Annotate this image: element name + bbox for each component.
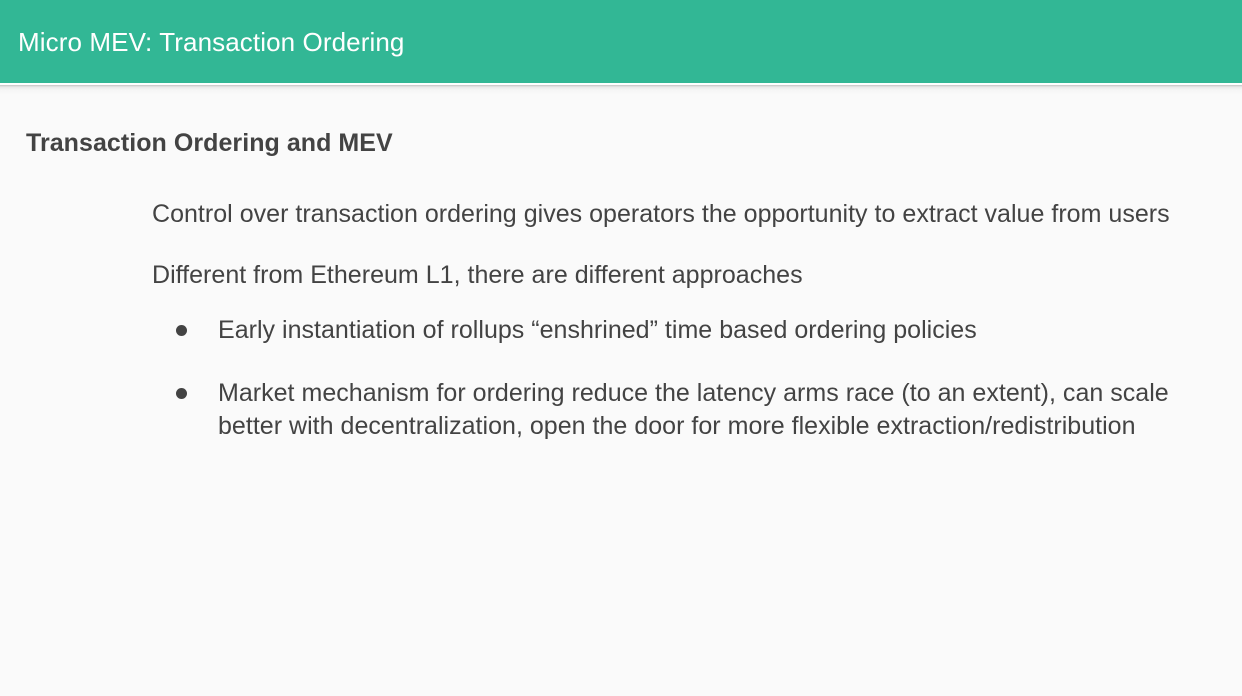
app-bar: Micro MEV: Transaction Ordering bbox=[0, 0, 1242, 83]
section-heading: Transaction Ordering and MEV bbox=[26, 128, 393, 158]
bullet-list: Early instantiation of rollups “enshrine… bbox=[152, 314, 1212, 443]
slide-content: Transaction Ordering and MEV Control ove… bbox=[0, 95, 1242, 696]
slide-canvas: Micro MEV: Transaction Ordering Transact… bbox=[0, 0, 1242, 696]
app-bar-hairline bbox=[0, 83, 1242, 85]
body-block: Control over transaction ordering gives … bbox=[152, 198, 1212, 443]
app-bar-shadow bbox=[0, 85, 1242, 95]
list-item-label: Market mechanism for ordering reduce the… bbox=[218, 377, 1198, 443]
bullet-dot-icon bbox=[176, 325, 187, 336]
list-item-label: Early instantiation of rollups “enshrine… bbox=[218, 314, 1198, 347]
list-item: Early instantiation of rollups “enshrine… bbox=[152, 314, 1212, 347]
paragraph-1: Control over transaction ordering gives … bbox=[152, 198, 1212, 231]
app-bar-title: Micro MEV: Transaction Ordering bbox=[18, 27, 405, 57]
paragraph-2: Different from Ethereum L1, there are di… bbox=[152, 259, 1212, 292]
bullet-dot-icon bbox=[176, 388, 187, 399]
list-item: Market mechanism for ordering reduce the… bbox=[152, 377, 1212, 443]
